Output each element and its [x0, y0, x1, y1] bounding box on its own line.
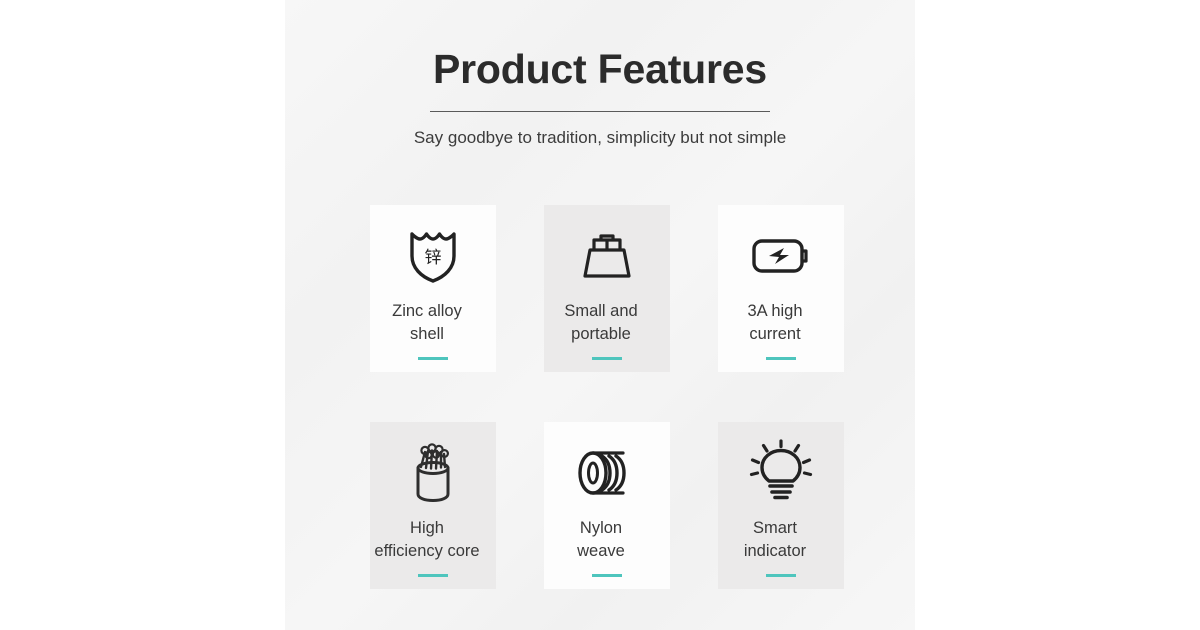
feature-card-3a-high-current[interactable]: 3A high current — [718, 205, 844, 372]
feature-row-1: 锌 Zinc alloy shell — [370, 205, 845, 372]
card-accent-bar — [592, 574, 622, 577]
feature-card-high-efficiency-core[interactable]: High efficiency core — [370, 422, 496, 589]
handbag-icon — [578, 227, 636, 285]
feature-grid: 锌 Zinc alloy shell — [370, 205, 845, 589]
feature-card-zinc-alloy-shell[interactable]: 锌 Zinc alloy shell — [370, 205, 496, 372]
battery-bolt-icon — [752, 227, 810, 285]
light-bulb-icon — [752, 444, 810, 502]
feature-card-label: Zinc alloy shell — [352, 300, 502, 346]
page-subtitle: Say goodbye to tradition, simplicity but… — [390, 126, 810, 150]
page-title: Product Features — [285, 0, 915, 93]
feature-card-label: Small and portable — [526, 300, 676, 346]
feature-card-label: Smart indicator — [700, 517, 850, 563]
svg-text:锌: 锌 — [425, 248, 442, 268]
title-divider — [430, 111, 770, 112]
card-accent-bar — [766, 574, 796, 577]
card-accent-bar — [766, 357, 796, 360]
feature-row-2: High efficiency core — [370, 422, 845, 589]
screenshot-root: Product Features Say goodbye to traditio… — [0, 0, 1200, 630]
shield-zinc-icon: 锌 — [404, 227, 462, 285]
feature-card-label: 3A high current — [700, 300, 850, 346]
content-panel: Product Features Say goodbye to traditio… — [285, 0, 915, 630]
feature-card-label: Nylon weave — [526, 517, 676, 563]
feature-card-nylon-weave[interactable]: Nylon weave — [544, 422, 670, 589]
feature-card-small-and-portable[interactable]: Small and portable — [544, 205, 670, 372]
feature-card-smart-indicator[interactable]: Smart indicator — [718, 422, 844, 589]
card-accent-bar — [592, 357, 622, 360]
card-accent-bar — [418, 357, 448, 360]
feature-card-label: High efficiency core — [352, 517, 502, 563]
cable-core-icon — [404, 444, 462, 502]
page-header: Product Features Say goodbye to traditio… — [285, 0, 915, 150]
card-accent-bar — [418, 574, 448, 577]
coil-weave-icon — [578, 444, 636, 502]
